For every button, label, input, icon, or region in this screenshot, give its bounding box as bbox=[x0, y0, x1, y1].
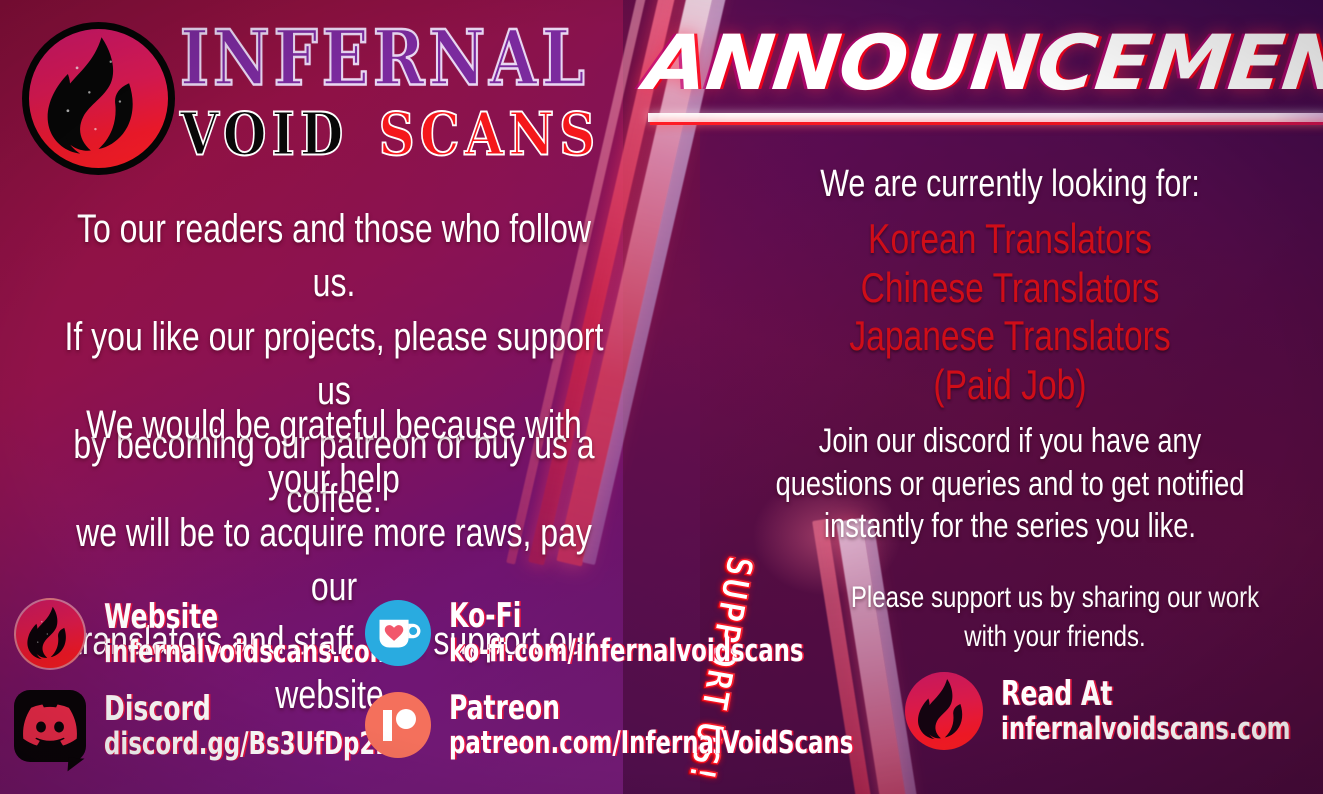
social-url-discord[interactable]: discord.gg/Bs3UfDp2Kf bbox=[104, 728, 403, 761]
role-item: Chinese Translators bbox=[762, 264, 1258, 313]
flame-circle-icon bbox=[905, 672, 983, 750]
support-paragraph-1-line-1: To our readers and those who follow us. bbox=[54, 202, 614, 310]
brand-name-infernal: INFERNAL bbox=[180, 20, 600, 97]
brand-name-scans: SCANS bbox=[379, 105, 601, 164]
discord-icon bbox=[14, 690, 86, 762]
support-paragraph-2-line-1: We would be grateful because with your h… bbox=[54, 398, 614, 506]
share-line-2: with your friends. bbox=[843, 617, 1267, 656]
social-url-website[interactable]: infernalvoidscans.com bbox=[104, 636, 394, 669]
social-url-kofi[interactable]: ko-fi.com/infernalvoidscans bbox=[449, 635, 804, 668]
brand-wordmark: INFERNAL VOID SCANS bbox=[180, 20, 600, 155]
brand-logo-icon bbox=[22, 22, 175, 175]
social-title-kofi: Ko-Fi bbox=[449, 598, 804, 635]
recruiting-heading: We are currently looking for: bbox=[700, 160, 1320, 209]
read-at-title: Read At bbox=[1001, 676, 1291, 713]
social-title-patreon: Patreon bbox=[449, 690, 853, 727]
social-url-patreon[interactable]: patreon.com/InfernalVoidScans bbox=[449, 727, 853, 760]
role-item: Japanese Translators bbox=[762, 312, 1258, 361]
flame-circle-icon bbox=[14, 598, 86, 670]
discord-invite-line-1: Join our discord if you have any bbox=[762, 420, 1258, 463]
share-line-1: Please support us by sharing our work bbox=[843, 578, 1267, 617]
recruiting-roles-list: Korean Translators Chinese Translators J… bbox=[700, 215, 1320, 410]
brand-name-void: VOID bbox=[180, 105, 348, 164]
recruiting-heading-text: We are currently looking for: bbox=[762, 160, 1258, 209]
social-link-kofi[interactable]: Ko-Fi ko-fi.com/infernalvoidscans bbox=[365, 598, 881, 668]
social-link-patreon[interactable]: Patreon patreon.com/InfernalVoidScans bbox=[365, 690, 942, 760]
read-at-url[interactable]: infernalvoidscans.com bbox=[1001, 713, 1291, 746]
social-title-discord: Discord bbox=[104, 691, 403, 728]
kofi-cup-icon bbox=[365, 600, 431, 666]
page-title: ANNOUNCEMENTS bbox=[641, 18, 1323, 107]
support-paragraph-2: We would be grateful because with your h… bbox=[0, 398, 684, 722]
announcement-banner: INFERNAL VOID SCANS ANNOUNCEMENTS To our… bbox=[0, 0, 1323, 794]
patreon-icon bbox=[365, 692, 431, 758]
read-at-link[interactable]: Read At infernalvoidscans.com bbox=[905, 672, 1323, 750]
discord-invite-line-2: questions or queries and to get notified bbox=[762, 463, 1258, 506]
header-divider-bar bbox=[648, 113, 1323, 122]
social-title-website: Website bbox=[104, 599, 394, 636]
header-divider-glow bbox=[650, 122, 1323, 125]
role-item: Korean Translators bbox=[762, 215, 1258, 264]
role-item: (Paid Job) bbox=[762, 361, 1258, 410]
discord-invite-line-3: instantly for the series you like. bbox=[762, 505, 1258, 548]
discord-invite-paragraph: Join our discord if you have any questio… bbox=[700, 420, 1320, 548]
